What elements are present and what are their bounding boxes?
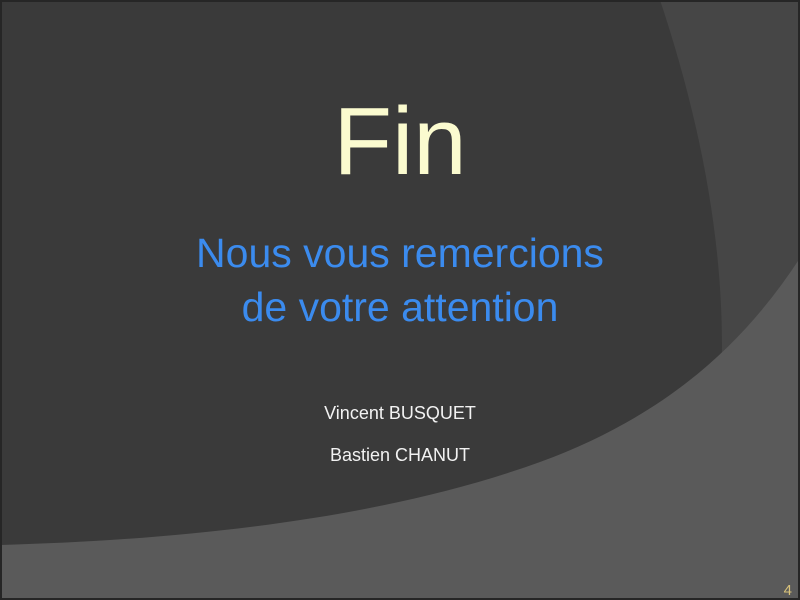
slide-number: 4: [784, 583, 792, 598]
presentation-slide: Fin Nous vous remercions de votre attent…: [0, 0, 800, 600]
slide-title: Fin: [0, 94, 800, 190]
author-name-1: Vincent BUSQUET: [0, 392, 800, 434]
slide-content: Fin Nous vous remercions de votre attent…: [0, 0, 800, 600]
slide-subtitle-line-1: Nous vous remercions: [0, 226, 800, 280]
author-name-2: Bastien CHANUT: [0, 434, 800, 476]
slide-subtitle-line-2: de votre attention: [0, 280, 800, 334]
slide-subtitle: Nous vous remercions de votre attention: [0, 226, 800, 334]
author-list: Vincent BUSQUET Bastien CHANUT: [0, 392, 800, 476]
